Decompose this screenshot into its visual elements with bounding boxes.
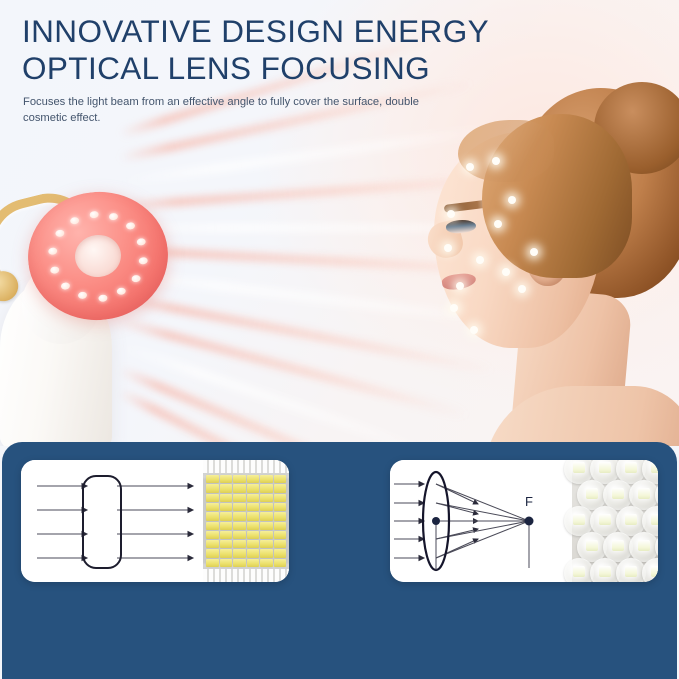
smd-led-bead (220, 494, 233, 502)
focal-point (525, 517, 534, 526)
smd-led-bead (233, 503, 246, 511)
treatment-dot (444, 244, 452, 252)
device-led-dot (117, 288, 127, 296)
hero-section: INNOVATIVE DESIGN ENERGY OPTICAL LENS FO… (0, 0, 679, 446)
strip-edge-bottom (203, 569, 289, 582)
smd-led-bead (206, 512, 219, 520)
smd-led-bead (247, 522, 260, 530)
smd-led-bead (260, 540, 273, 548)
smd-led-bead (247, 494, 260, 502)
smd-led-bead (274, 512, 287, 520)
optical-lens-card: F (390, 460, 658, 582)
device-led-dot (69, 216, 79, 224)
smd-led-bead (274, 559, 287, 567)
treatment-dot (447, 210, 455, 218)
smd-led-bead (247, 540, 260, 548)
smd-led-bead (274, 484, 287, 492)
smd-led-bead (233, 484, 246, 492)
smd-led-bead (260, 475, 273, 483)
smd-led-bead (220, 531, 233, 539)
treatment-dot (508, 196, 516, 204)
device-led-dot (132, 274, 142, 282)
smd-led-bead (233, 559, 246, 567)
parallel-rays-svg (21, 460, 203, 582)
device-led-dot (50, 266, 60, 274)
smd-led-bead (220, 540, 233, 548)
smd-led-bead (274, 549, 287, 557)
device-led-dot (109, 212, 119, 220)
smd-led-bead (247, 484, 260, 492)
smd-led-bead (247, 531, 260, 539)
smd-led-bead (233, 540, 246, 548)
smd-led-bead (260, 522, 273, 530)
smd-led-bead (220, 475, 233, 483)
device-led-core (73, 233, 123, 280)
smd-bead-grid (206, 475, 286, 567)
device-led-dot (60, 282, 70, 290)
smd-led-bead (206, 559, 219, 567)
treatment-dot (456, 282, 464, 290)
parallel-rays-diagram (21, 460, 203, 582)
smd-led-bead (260, 549, 273, 557)
treatment-dot (450, 304, 458, 312)
led-strip-base (203, 460, 289, 582)
smd-led-bead (206, 531, 219, 539)
smd-led-bead (220, 503, 233, 511)
page-subtitle: Focuses the light beam from an effective… (23, 95, 443, 126)
smd-led-bead (220, 549, 233, 557)
smd-led-bead (274, 522, 287, 530)
smd-led-bead (233, 549, 246, 557)
smd-led-bead (220, 512, 233, 520)
smd-led-bead (233, 522, 246, 530)
device-led-dot (55, 230, 65, 238)
smd-led-bead (206, 484, 219, 492)
smd-led-strip-photo (203, 460, 289, 582)
smd-led-bead (274, 494, 287, 502)
treatment-dot (492, 157, 500, 165)
smd-led-bead (206, 494, 219, 502)
strip-edge-top (203, 460, 289, 473)
treatment-dot (530, 248, 538, 256)
device-led-dot (139, 257, 149, 265)
smd-led-bead (260, 512, 273, 520)
comparison-cards: F (2, 442, 677, 597)
smd-led-bead (206, 549, 219, 557)
treatment-dot (518, 285, 526, 293)
smd-led-bead (260, 559, 273, 567)
smd-led-bead (220, 522, 233, 530)
smd-led-bead (206, 503, 219, 511)
smd-led-bead (206, 475, 219, 483)
smd-led-bead (206, 540, 219, 548)
smd-led-bead (274, 503, 287, 511)
dome-lens-led-photo (572, 460, 658, 582)
smd-led-bead (206, 522, 219, 530)
led-beauty-device (0, 168, 212, 446)
treatment-dot (476, 256, 484, 264)
device-led-dot (137, 238, 147, 246)
smd-led-bead (260, 531, 273, 539)
treatment-dot (494, 220, 502, 228)
treatment-dot (502, 268, 510, 276)
device-led-dot (98, 294, 108, 302)
device-led-dot (48, 247, 58, 255)
smd-led-bead (260, 494, 273, 502)
smd-led-bead (233, 531, 246, 539)
smd-led-bead (247, 475, 260, 483)
product-marketing-image: INNOVATIVE DESIGN ENERGY OPTICAL LENS FO… (0, 0, 679, 679)
device-led-dot (89, 210, 99, 218)
smd-led-bead (274, 540, 287, 548)
smd-led-bead (274, 475, 287, 483)
device-led-dot (126, 222, 136, 230)
device-led-dot (77, 292, 87, 300)
smd-led-bead (247, 503, 260, 511)
smd-led-bead (260, 503, 273, 511)
page-title: INNOVATIVE DESIGN ENERGY OPTICAL LENS FO… (22, 13, 542, 87)
woman-profile-photo (398, 96, 679, 446)
title-line-1: INNOVATIVE DESIGN ENERGY (22, 13, 489, 49)
treatment-dot (470, 326, 478, 334)
title-line-2: OPTICAL LENS FOCUSING (22, 50, 542, 87)
lens-center-point (432, 517, 440, 525)
smd-led-bead (247, 549, 260, 557)
dome-lens-grid (572, 460, 658, 582)
ordinary-led-card (21, 460, 289, 582)
smd-led-bead (220, 484, 233, 492)
smd-led-bead (233, 475, 246, 483)
smd-led-bead (260, 484, 273, 492)
led-bead-outline (83, 476, 121, 568)
hairline-highlight (458, 120, 554, 182)
focal-point-label: F (525, 494, 533, 509)
smd-led-bead (220, 559, 233, 567)
comparison-panel: F VS Ordinary LED Beads Dissipates Light… (2, 442, 677, 679)
smd-led-bead (233, 512, 246, 520)
smd-led-bead (274, 531, 287, 539)
smd-led-bead (247, 559, 260, 567)
converging-lens-diagram: F (390, 460, 572, 582)
smd-led-bead (233, 494, 246, 502)
converging-lens-svg: F (390, 460, 572, 582)
treatment-dot (466, 163, 474, 171)
smd-led-bead (247, 512, 260, 520)
